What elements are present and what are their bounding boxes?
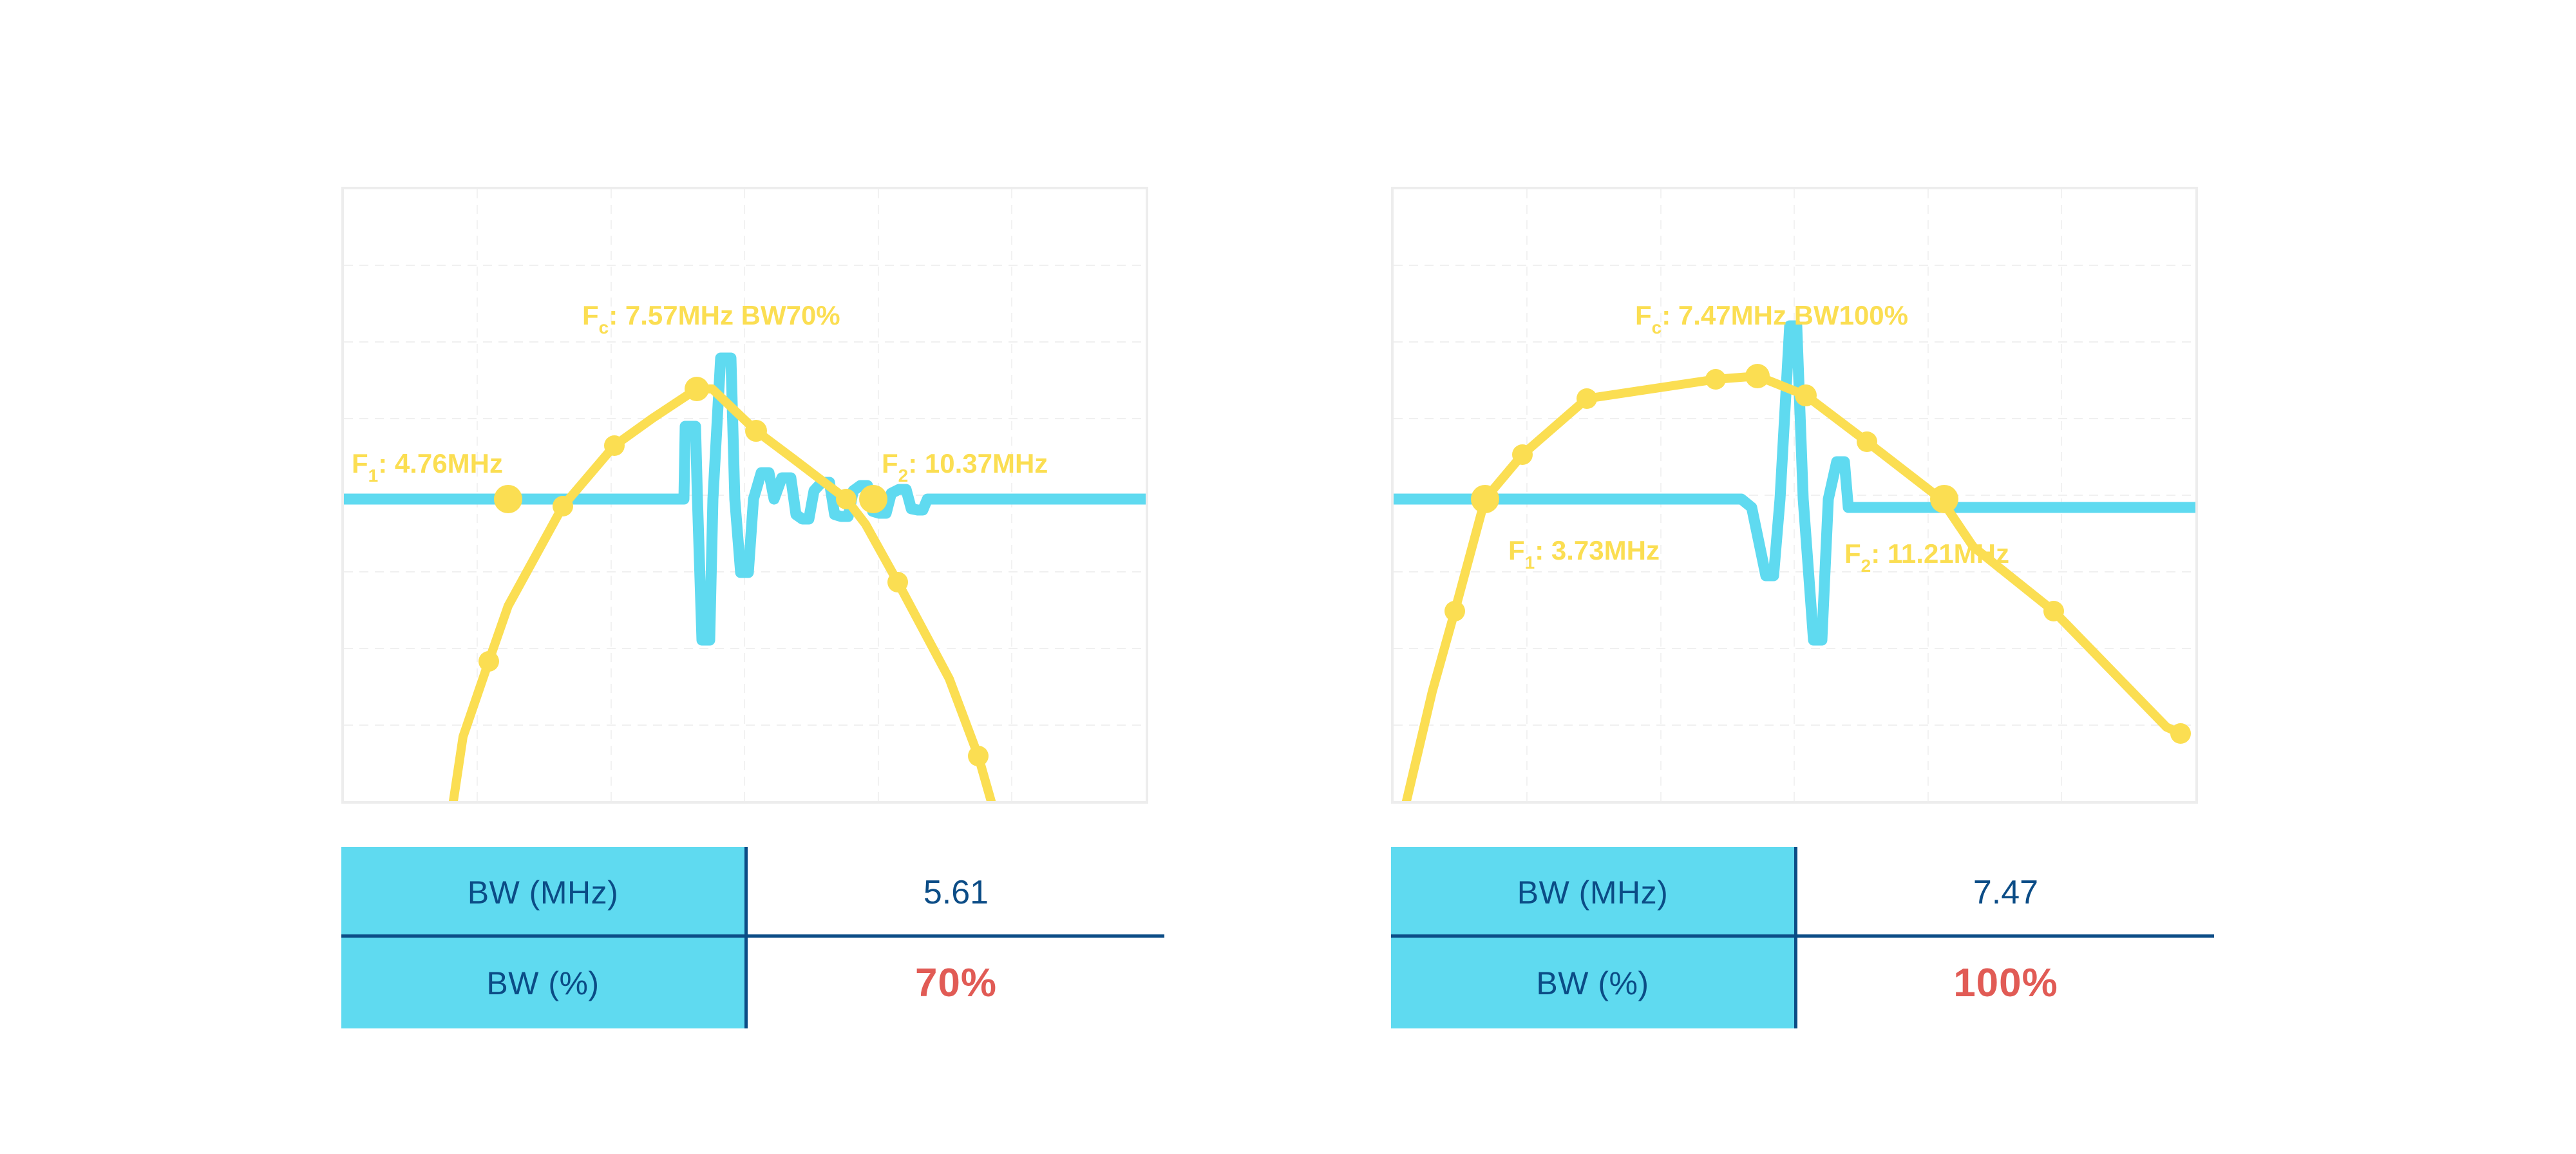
annotation-center-right: Fc: 7.47MHz BW100% [1635,300,1908,337]
bw-pct-label: BW (%) [1536,965,1649,1002]
annotation-center-symbol: F [582,300,599,330]
annotation-center-left: Fc: 7.57MHz BW70% [582,300,840,337]
bw-pct-value-cell: 100% [1797,938,2214,1028]
chart-box-right: Fc: 7.47MHz BW100% F1: 3.73MHz F2: 11.21… [1391,187,2198,804]
bw-pct-value: 70% [915,960,997,1006]
annotation-f1-sub: 1 [368,466,379,486]
bw-mhz-value-cell: 5.61 [748,847,1164,938]
spectrum-chart-right: Fc: 7.47MHz BW100% F1: 3.73MHz F2: 11.21… [1394,189,2195,801]
annotation-f1-text: : 3.73MHz [1535,535,1660,565]
marker-f1-left [494,485,522,513]
annotation-f1-right: F1: 3.73MHz [1508,535,1660,572]
bw-mhz-label-cell: BW (MHz) [341,847,748,938]
annotation-f2-text: : 11.21MHz [1871,538,2009,569]
table-row: BW (%) 70% [341,938,1164,1028]
annotation-f2-right: F2: 11.21MHz [1844,538,2009,576]
panel-right: Fc: 7.47MHz BW100% F1: 3.73MHz F2: 11.21… [1391,187,2228,1028]
marker-f1-right [1471,485,1499,513]
bw-mhz-label: BW (MHz) [1517,874,1669,911]
bw-mhz-value: 7.47 [1973,873,2038,912]
annotation-f2-left: F2: 10.37MHz [882,448,1048,486]
annotation-center-text: : 7.57MHz BW70% [609,300,840,330]
bw-table-left: BW (MHz) 5.61 BW (%) 70% [341,847,1164,1028]
panel-left: Fc: 7.57MHz BW70% F1: 4.76MHz F2: 10.37M… [341,187,1179,1028]
bw-pct-value: 100% [1953,960,2058,1006]
annotation-f2-symbol: F [882,448,898,478]
marker-f2-right [1930,485,1958,513]
bw-mhz-value-cell: 7.47 [1797,847,2214,938]
annotation-f1-text: : 4.76MHz [378,448,503,478]
bw-table-right: BW (MHz) 7.47 BW (%) 100% [1391,847,2214,1028]
annotation-f1-symbol: F [1508,535,1525,565]
bw-pct-value-cell: 70% [748,938,1164,1028]
bw-mhz-label-cell: BW (MHz) [1391,847,1797,938]
annotation-center-text: : 7.47MHz BW100% [1662,300,1908,330]
annotation-f1-left: F1: 4.76MHz [352,448,503,486]
annotation-f1-sub: 1 [1525,553,1535,572]
spectrum-chart-left: Fc: 7.57MHz BW70% F1: 4.76MHz F2: 10.37M… [344,189,1146,801]
annotation-center-sub: c [1652,317,1662,337]
table-row: BW (MHz) 7.47 [1391,847,2214,938]
annotation-f2-sub: 2 [898,466,909,486]
bw-mhz-value: 5.61 [923,873,989,912]
bw-mhz-label: BW (MHz) [468,874,619,911]
panels-container: Fc: 7.57MHz BW70% F1: 4.76MHz F2: 10.37M… [0,0,2576,1154]
annotation-center-sub: c [599,317,609,337]
annotation-f2-sub: 2 [1861,556,1871,576]
marker-f2-left [859,485,887,513]
bw-pct-label: BW (%) [486,965,599,1002]
annotation-f2-text: : 10.37MHz [908,448,1048,478]
bw-pct-label-cell: BW (%) [341,938,748,1028]
chart-box-left: Fc: 7.57MHz BW70% F1: 4.76MHz F2: 10.37M… [341,187,1148,804]
table-row: BW (%) 100% [1391,938,2214,1028]
table-row: BW (MHz) 5.61 [341,847,1164,938]
bw-pct-label-cell: BW (%) [1391,938,1797,1028]
annotation-f2-symbol: F [1844,538,1861,569]
annotation-f1-symbol: F [352,448,368,478]
annotation-center-symbol: F [1635,300,1652,330]
